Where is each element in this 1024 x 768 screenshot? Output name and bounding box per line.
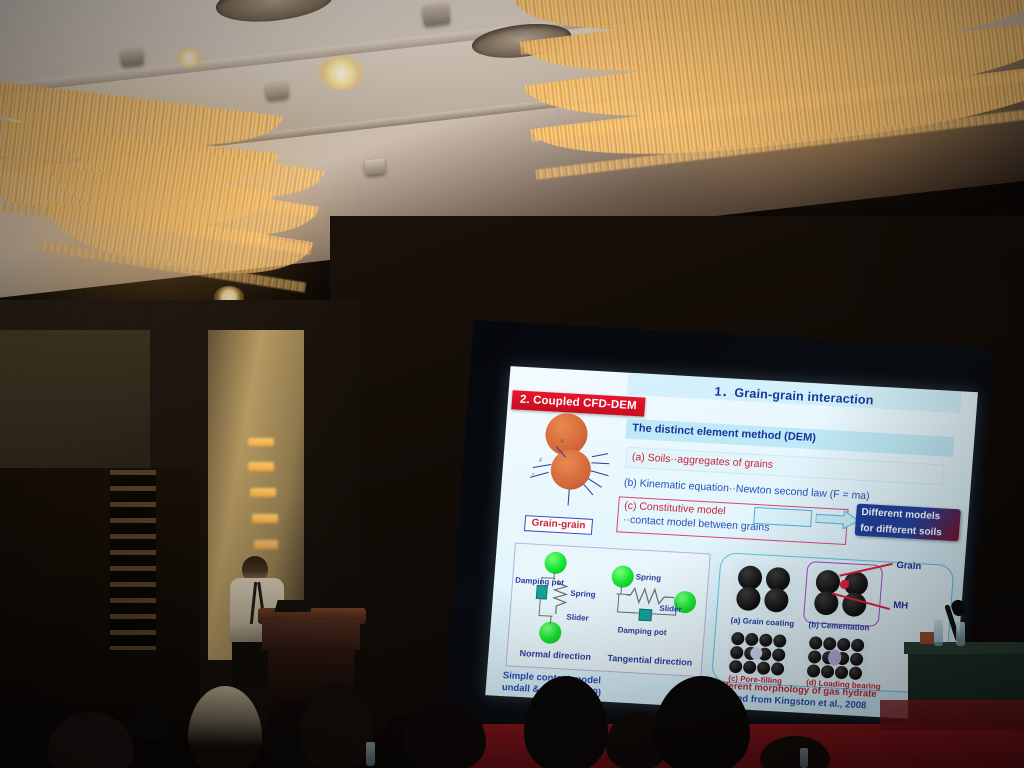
different-models-box: Different models for different soils	[855, 504, 961, 542]
grain-node-icon	[538, 621, 562, 644]
water-bottle	[800, 748, 808, 768]
wall-sconce-light	[254, 540, 278, 549]
presentation-slide: 1．Grain-grain interaction 2. Coupled CFD…	[485, 366, 978, 721]
wall-sconce-light	[252, 514, 278, 523]
bullet-c-line2: ··contact model between grains	[623, 514, 770, 534]
grain-contact-illustration: FFr	[522, 411, 625, 512]
spring-label-normal: Spring	[570, 589, 596, 599]
pore-filling-image	[727, 630, 792, 677]
audience-member	[128, 700, 174, 740]
annotation-mh: MH	[893, 600, 909, 612]
loading-bearing-image	[805, 634, 870, 681]
tangential-direction-label: Tangential direction	[607, 653, 692, 668]
svg-text:F: F	[561, 439, 565, 445]
caption-grain-coating: (a) Grain coating	[730, 616, 794, 629]
podium-laptop	[274, 600, 313, 612]
force-vectors-icon: FFr	[522, 411, 625, 512]
arrow-right-icon	[815, 509, 860, 529]
grain-node-icon	[544, 551, 568, 574]
grain-coating-image	[731, 562, 797, 615]
grain-grain-label: Grain-grain	[524, 515, 593, 535]
water-bottle	[366, 742, 375, 766]
dem-heading-text: The distinct element method (DEM)	[632, 422, 817, 444]
red-carpet	[880, 700, 1024, 730]
wall-sconce-light	[250, 488, 276, 497]
grain-node-icon	[611, 565, 635, 588]
annotation-grain: Grain	[896, 560, 922, 572]
water-bottle	[934, 620, 943, 646]
bullet-a-text: (a) Soils··aggregates of grains	[631, 451, 773, 471]
damping-pot-icon	[638, 609, 652, 622]
normal-direction-label: Normal direction	[519, 648, 591, 662]
ceiling-spotlight	[318, 56, 364, 90]
water-bottle	[956, 622, 965, 646]
spring-label-tangential: Spring	[635, 572, 661, 582]
damping-pot-label-tangential: Damping pot	[617, 625, 667, 637]
table-card	[920, 632, 934, 644]
slider-label-tangential: Slider	[659, 604, 682, 614]
wall-sconce-light	[248, 438, 274, 446]
wall-light-strip	[110, 470, 156, 650]
ceiling-spotlight	[176, 48, 202, 68]
contact-model-panel: Damping pot Spring Slider Normal directi…	[506, 543, 711, 678]
cementation-highlight-box	[803, 561, 884, 627]
conference-room-photo: 1．Grain-grain interaction 2. Coupled CFD…	[0, 0, 1024, 768]
empty-cyan-box	[753, 507, 812, 527]
slider-label-normal: Slider	[566, 613, 589, 623]
damping-pot-icon	[536, 585, 548, 600]
bullet-c-box: (c) Constitutive model ··contact model b…	[616, 496, 848, 545]
svg-text:F: F	[539, 458, 543, 464]
wall-sconce-light	[248, 462, 274, 471]
damping-pot-label-normal: Damping pot	[515, 576, 565, 588]
